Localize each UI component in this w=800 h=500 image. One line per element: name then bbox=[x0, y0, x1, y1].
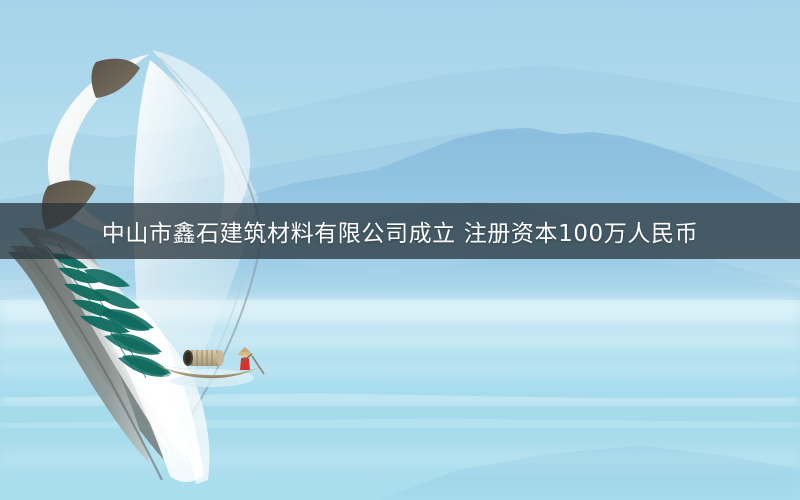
headline-text: 中山市鑫石建筑材料有限公司成立 注册资本100万人民币 bbox=[102, 214, 698, 248]
boat-canopy bbox=[183, 350, 224, 366]
boatman bbox=[238, 347, 253, 370]
page-curl-shadow bbox=[92, 59, 141, 98]
sampan-boat bbox=[152, 332, 272, 402]
banner-image: 中山市鑫石建筑材料有限公司成立 注册资本100万人民币 bbox=[0, 0, 800, 500]
open-book-illustration bbox=[0, 40, 300, 490]
headline-banner: 中山市鑫石建筑材料有限公司成立 注册资本100万人民币 bbox=[0, 203, 800, 259]
boat-oar bbox=[252, 356, 264, 374]
